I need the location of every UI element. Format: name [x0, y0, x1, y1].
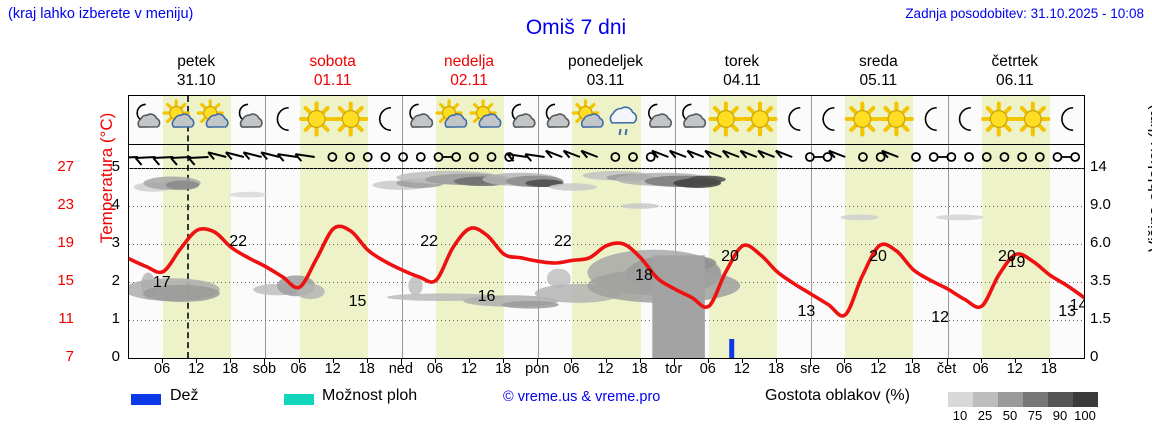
sun-icon: [744, 104, 775, 135]
wind-barb-icon: [758, 151, 774, 158]
cloud-density-swatch: [1048, 392, 1073, 407]
moon-icon: [277, 108, 288, 131]
day-header-4: ponedeljek03.11: [537, 52, 673, 90]
sun-icon: [847, 104, 878, 135]
temperature-label: 12: [931, 309, 949, 327]
temp-tick-7: 7: [42, 348, 74, 365]
precipitation-bar: [729, 339, 734, 358]
cloud-density-blob: [936, 215, 984, 221]
wind-barb-icon: [171, 157, 191, 165]
moon-cloud-icon: [240, 104, 262, 127]
axis-title-temperature: Temperatura (°C): [97, 63, 117, 293]
wind-barb-icon: [189, 157, 209, 165]
day-date: 05.11: [810, 71, 946, 90]
day-header-5: torek04.11: [674, 52, 810, 90]
temperature-label: 17: [153, 274, 171, 292]
wind-barb-icon: [136, 157, 156, 165]
sun-cloud-icon: [198, 101, 228, 127]
wind-barb-icon: [581, 151, 597, 158]
temp-tick-27: 27: [42, 158, 74, 175]
wind-calm-icon: [1036, 153, 1044, 161]
wind-barb-icon: [153, 157, 173, 165]
cloud-tick-9.0: 9.0: [1090, 196, 1126, 213]
wind-barb-icon: [687, 151, 703, 158]
cloud-density-blob: [840, 215, 878, 221]
wind-barb-icon: [705, 151, 721, 158]
wind-calm-icon: [824, 153, 832, 161]
day-header-7: četrtek06.11: [947, 52, 1083, 90]
credit-link[interactable]: © vreme.us & vreme.pro: [503, 389, 660, 405]
moon-icon: [925, 108, 936, 131]
wind-calm-icon: [434, 153, 452, 161]
legend-rain-swatch: [131, 394, 161, 405]
cloud-tick-14: 14: [1090, 158, 1126, 175]
moon-cloud-icon: [683, 104, 705, 127]
x-tick-label: 18: [1029, 361, 1069, 377]
sun-cloud-icon: [437, 101, 467, 127]
wind-calm-icon: [1071, 153, 1079, 161]
wind-barb-icon: [525, 154, 544, 161]
cloud-density-blob: [501, 301, 558, 309]
cloud-density-block: [652, 255, 705, 358]
sun-icon: [301, 104, 332, 135]
wind-calm-icon: [1053, 153, 1071, 161]
precip-tick-1: 1: [96, 310, 120, 327]
wind-calm-icon: [417, 153, 425, 161]
day-name: sreda: [810, 52, 946, 71]
precip-tick-4: 4: [96, 196, 120, 213]
day-name: četrtek: [947, 52, 1083, 71]
temperature-label: 19: [1008, 254, 1026, 272]
day-header-2: sobota01.11: [264, 52, 400, 90]
wind-calm-icon: [877, 153, 885, 161]
temperature-label: 13: [798, 303, 816, 321]
graph-band: 172215221622182013201220131914: [129, 168, 1084, 358]
precip-tick-5: 5: [96, 158, 120, 175]
cloud-density-blob: [166, 180, 199, 190]
cloud-density-blob: [688, 176, 726, 184]
wind-calm-icon: [470, 153, 478, 161]
sun-icon: [983, 104, 1014, 135]
moon-cloud-icon: [410, 104, 432, 127]
temperature-label: 20: [869, 248, 887, 266]
day-date: 06.11: [947, 71, 1083, 90]
cloud-drizzle-icon: [610, 107, 636, 135]
wind-barbs-svg: [129, 144, 1084, 168]
wind-barb-icon: [278, 154, 297, 161]
sun-cloud-icon: [164, 101, 194, 127]
wind-barb-icon: [740, 151, 756, 158]
wind-calm-icon: [629, 153, 637, 161]
sun-icon: [1017, 104, 1048, 135]
moon-cloud-icon: [649, 104, 671, 127]
wind-calm-icon: [328, 153, 336, 161]
wind-barb-band: [129, 144, 1084, 168]
temperature-label: 14: [1070, 297, 1084, 315]
day-date: 31.10: [128, 71, 264, 90]
day-date: 02.11: [401, 71, 537, 90]
day-date: 03.11: [537, 71, 673, 90]
precip-tick-2: 2: [96, 272, 120, 289]
sun-cloud-icon: [471, 101, 501, 127]
moon-icon: [789, 108, 800, 131]
wind-barb-icon: [723, 151, 739, 158]
wind-barb-icon: [261, 152, 279, 159]
day-header-3: nedelja02.11: [401, 52, 537, 90]
cloud-density-swatch: [948, 392, 973, 407]
wind-calm-icon: [488, 153, 496, 161]
wind-barb-icon: [564, 151, 580, 158]
temperature-cloud-svg: [129, 168, 1084, 358]
temp-tick-11: 11: [42, 310, 74, 327]
moon-cloud-icon: [137, 104, 159, 127]
precip-tick-3: 3: [96, 234, 120, 251]
wind-barb-icon: [244, 152, 262, 159]
wind-calm-icon: [381, 153, 389, 161]
wind-barb-icon: [776, 151, 792, 158]
temperature-label: 16: [478, 288, 496, 306]
day-name: torek: [674, 52, 810, 71]
temp-tick-23: 23: [42, 196, 74, 213]
precip-tick-0: 0: [96, 348, 120, 365]
cloud-tick-1.5: 1.5: [1090, 310, 1126, 327]
wind-calm-icon: [1000, 153, 1008, 161]
cloud-tick-3.5: 3.5: [1090, 272, 1126, 289]
legend-rain-label: Dež: [170, 387, 198, 405]
axis-title-cloud-height: Višina oblakov (km): [1145, 63, 1152, 293]
wind-calm-icon: [930, 153, 948, 161]
wind-calm-icon: [611, 153, 619, 161]
wind-calm-icon: [452, 153, 460, 161]
cloud-tick-0: 0: [1090, 348, 1126, 365]
day-name: sobota: [264, 52, 400, 71]
wind-calm-icon: [806, 153, 824, 161]
wind-calm-icon: [399, 153, 407, 161]
cloud-density-swatch: [1023, 392, 1048, 407]
weather-forecast-page: (kraj lahko izberete v meniju) Omiš 7 dn…: [0, 0, 1152, 443]
cloud-density-swatch: [998, 392, 1023, 407]
temperature-label: 20: [721, 248, 739, 266]
wind-calm-icon: [947, 153, 955, 161]
last-update-label: Zadnja posodobitev: 31.10.2025 - 10:08: [905, 6, 1144, 21]
wind-barb-icon: [226, 152, 244, 159]
temperature-label: 22: [554, 233, 572, 251]
moon-icon: [1062, 108, 1073, 131]
temp-tick-19: 19: [42, 234, 74, 251]
wind-calm-icon: [912, 153, 920, 161]
wind-calm-icon: [859, 153, 867, 161]
wind-calm-icon: [364, 153, 372, 161]
moon-icon: [960, 108, 971, 131]
sun-icon: [710, 104, 741, 135]
forecast-plot: 172215221622182013201220131914: [128, 95, 1085, 359]
cloud-tick-6.0: 6.0: [1090, 234, 1126, 251]
day-name: nedelja: [401, 52, 537, 71]
wind-calm-icon: [346, 153, 354, 161]
sun-icon: [881, 104, 912, 135]
cloud-density-label: Gostota oblakov (%): [765, 387, 910, 405]
moon-cloud-icon: [546, 104, 568, 127]
wind-calm-icon: [983, 153, 991, 161]
moon-icon: [823, 108, 834, 131]
cloud-density-blob: [229, 192, 267, 198]
temperature-label: 22: [229, 233, 247, 251]
wind-calm-icon: [647, 153, 655, 161]
weather-icon-band: [129, 96, 1084, 144]
cloud-density-tick: 100: [1067, 408, 1103, 423]
cloud-density-blob: [549, 183, 597, 191]
cloud-density-swatch: [973, 392, 998, 407]
wind-barb-icon: [670, 151, 686, 158]
moon-icon: [380, 108, 391, 131]
wind-calm-icon: [965, 153, 973, 161]
wind-barb-icon: [295, 154, 314, 161]
day-header-6: sreda05.11: [810, 52, 946, 90]
temperature-label: 15: [349, 293, 367, 311]
sun-icon: [335, 104, 366, 135]
day-header-1: petek31.10: [128, 52, 264, 90]
day-date: 04.11: [674, 71, 810, 90]
cloud-density-swatch: [1073, 392, 1098, 407]
legend-showers-label: Možnost ploh: [322, 387, 417, 405]
weather-icons-svg: [129, 96, 1084, 144]
temp-tick-15: 15: [42, 272, 74, 289]
temperature-label: 22: [420, 233, 438, 251]
legend-showers-swatch: [284, 394, 314, 405]
moon-cloud-icon: [512, 104, 534, 127]
wind-calm-icon: [1018, 153, 1026, 161]
day-name: petek: [128, 52, 264, 71]
day-date: 01.11: [264, 71, 400, 90]
temperature-label: 18: [635, 267, 653, 285]
day-name: ponedeljek: [537, 52, 673, 71]
wind-barb-icon: [208, 152, 226, 159]
sun-cloud-icon: [573, 101, 603, 127]
wind-barb-icon: [546, 151, 562, 158]
cloud-density-blob: [621, 203, 659, 209]
